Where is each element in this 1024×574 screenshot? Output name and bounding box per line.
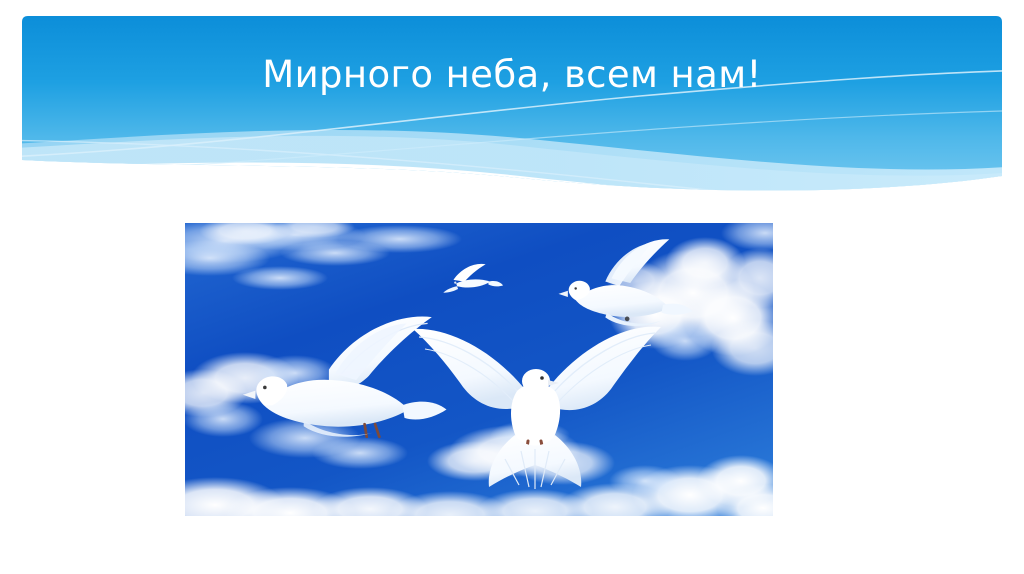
slide-title: Мирного неба, всем нам! xyxy=(0,52,1024,98)
doves-photo xyxy=(185,223,773,516)
header-wave-banner xyxy=(0,0,1024,215)
banner-shape xyxy=(22,16,1002,191)
presentation-slide: Мирного неба, всем нам! xyxy=(0,0,1024,574)
